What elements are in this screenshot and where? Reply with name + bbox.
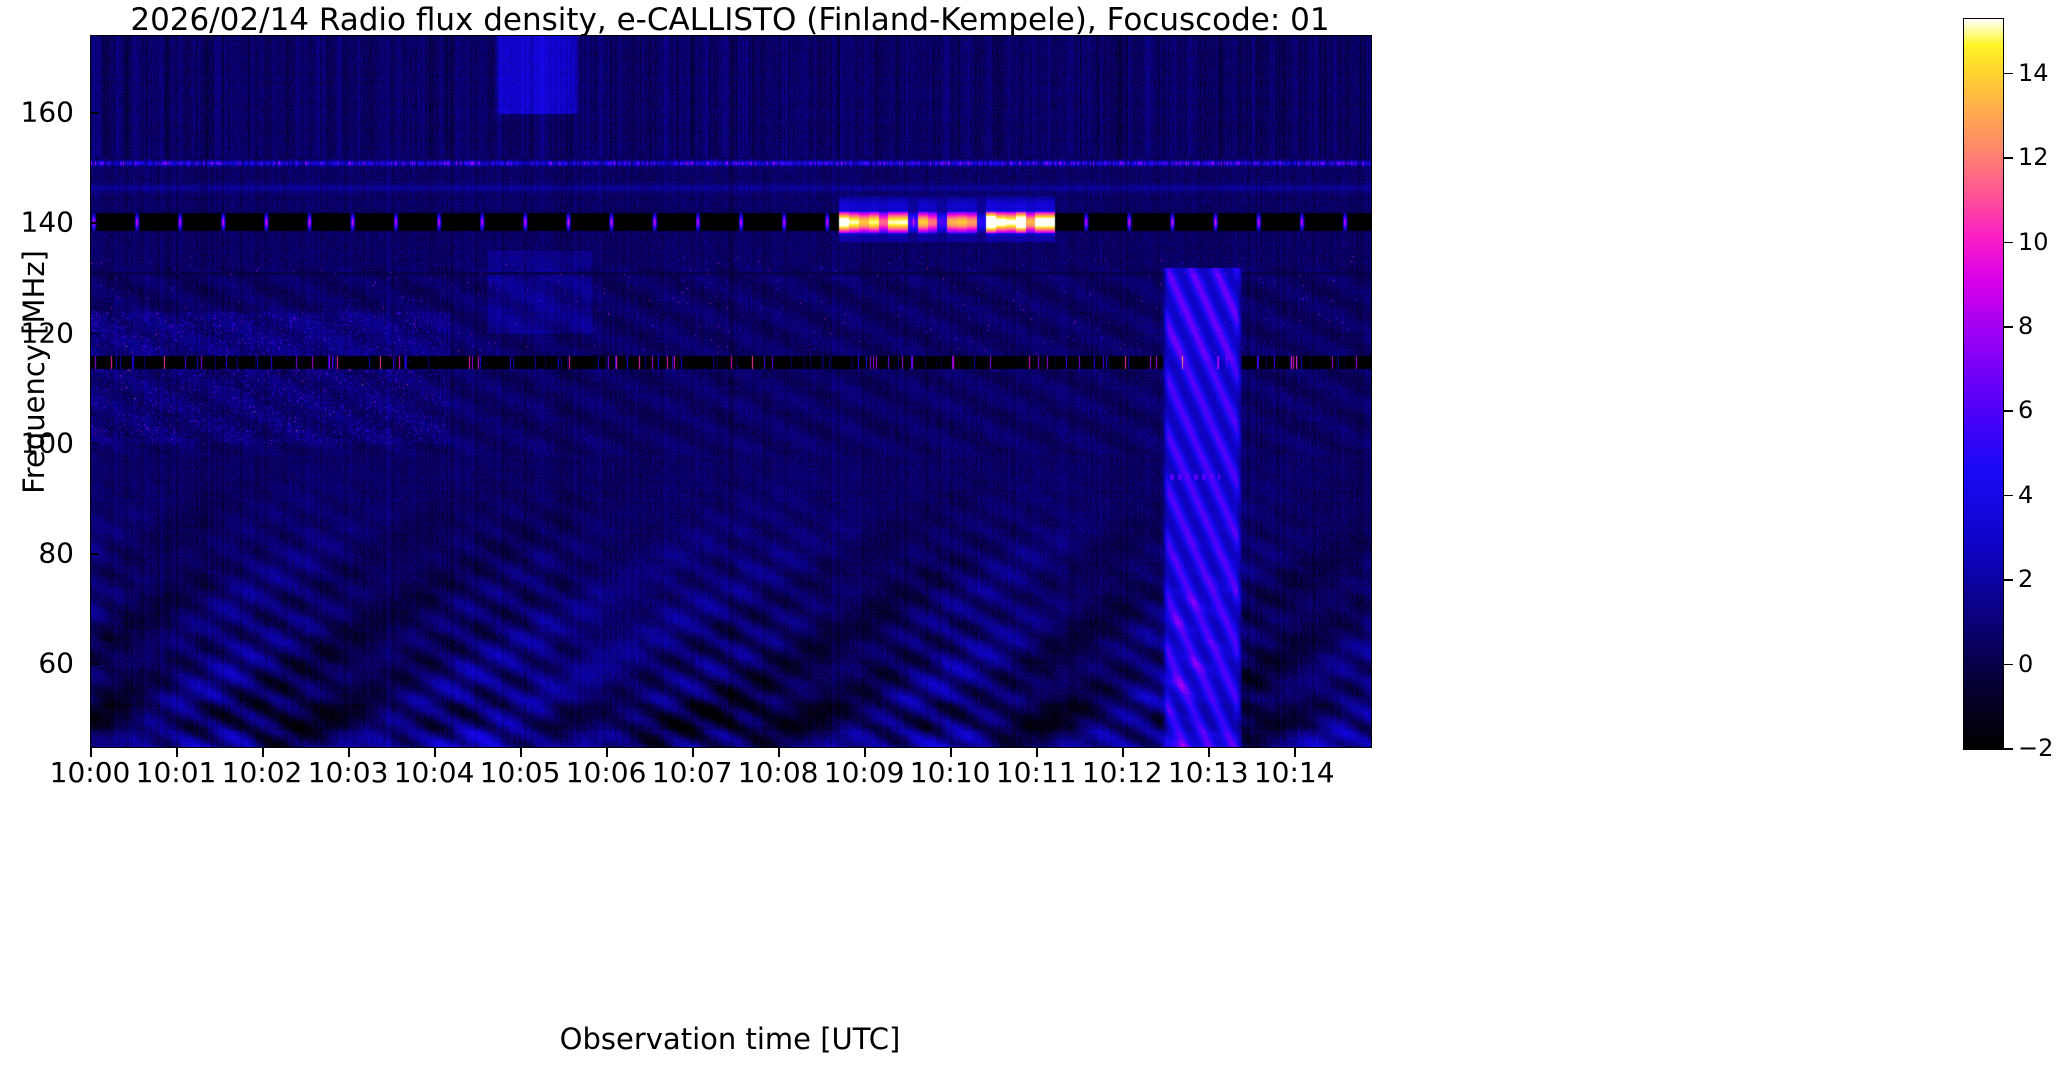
x-axis-tick-mark [864,748,866,757]
colorbar-tick-mark [2004,579,2013,581]
colorbar-tick-mark [2004,242,2013,244]
x-axis-tick-label: 10:07 [652,756,733,789]
colorbar-tick-mark [2004,157,2013,159]
colorbar-tick-label: 0 [2018,650,2033,678]
x-axis-tick-mark [520,748,522,757]
colorbar-tick-label: 4 [2018,481,2033,509]
x-axis-tick-label: 10:00 [50,756,131,789]
y-axis-tick-mark [90,553,99,555]
colorbar-tick-label: 8 [2018,312,2033,340]
colorbar-tick-label: 14 [2018,59,2049,87]
spectrogram-plot-area [90,35,1372,748]
colorbar-tick-label: 6 [2018,396,2033,424]
x-axis-tick-label: 10:04 [394,756,475,789]
colorbar-tick-label: −2 [2018,734,2053,762]
y-axis-tick-label: 160 [18,96,74,129]
x-axis-tick-label: 10:09 [824,756,905,789]
x-axis-tick-mark [90,748,92,757]
colorbar-tick-mark [2004,748,2013,750]
y-axis-tick-mark [90,222,99,224]
x-axis-tick-label: 10:11 [996,756,1077,789]
colorbar-tick-labels: −202468101214 [1963,18,2066,748]
x-axis-tick-label: 10:08 [738,756,819,789]
y-axis-tick-mark [90,443,99,445]
colorbar-tick-label: 2 [2018,565,2033,593]
page-title: 2026/02/14 Radio flux density, e-CALLIST… [0,2,1460,38]
y-axis-tick-mark [90,663,99,665]
colorbar-tick-mark [2004,73,2013,75]
x-axis-tick-mark [434,748,436,757]
x-axis-tick-mark [692,748,694,757]
x-axis-tick-mark [262,748,264,757]
colorbar-tick-mark [2004,326,2013,328]
x-axis-tick-labels: 10:0010:0110:0210:0310:0410:0510:0610:07… [90,748,1370,788]
y-axis-tick-mark [90,333,99,335]
spectrogram-figure: 2026/02/14 Radio flux density, e-CALLIST… [0,0,2066,1067]
y-axis-tick-mark [90,112,99,114]
x-axis-tick-label: 10:12 [1082,756,1163,789]
x-axis-tick-label: 10:02 [222,756,303,789]
x-axis-tick-mark [1036,748,1038,757]
colorbar-tick-label: 12 [2018,143,2049,171]
x-axis-tick-label: 10:13 [1168,756,1249,789]
x-axis-tick-label: 10:06 [566,756,647,789]
x-axis-tick-mark [1122,748,1124,757]
x-axis-tick-mark [176,748,178,757]
x-axis-label: Observation time [UTC] [90,1022,1370,1056]
x-axis-tick-label: 10:03 [308,756,389,789]
x-axis-tick-label: 10:10 [910,756,991,789]
colorbar-tick-mark [2004,410,2013,412]
x-axis-tick-label: 10:14 [1254,756,1335,789]
spectrogram-image [91,36,1371,747]
x-axis-tick-mark [348,748,350,757]
colorbar-tick-mark [2004,495,2013,497]
y-axis-tick-label: 60 [18,647,74,680]
x-axis-tick-mark [1294,748,1296,757]
y-axis-label: Frequency [MHz] [17,232,51,512]
x-axis-tick-label: 10:05 [480,756,561,789]
y-axis-tick-label: 80 [18,537,74,570]
x-axis-tick-mark [778,748,780,757]
x-axis-tick-mark [950,748,952,757]
x-axis-tick-mark [1208,748,1210,757]
colorbar-tick-label: 10 [2018,228,2049,256]
colorbar-tick-mark [2004,664,2013,666]
x-axis-tick-mark [606,748,608,757]
x-axis-tick-label: 10:01 [136,756,217,789]
